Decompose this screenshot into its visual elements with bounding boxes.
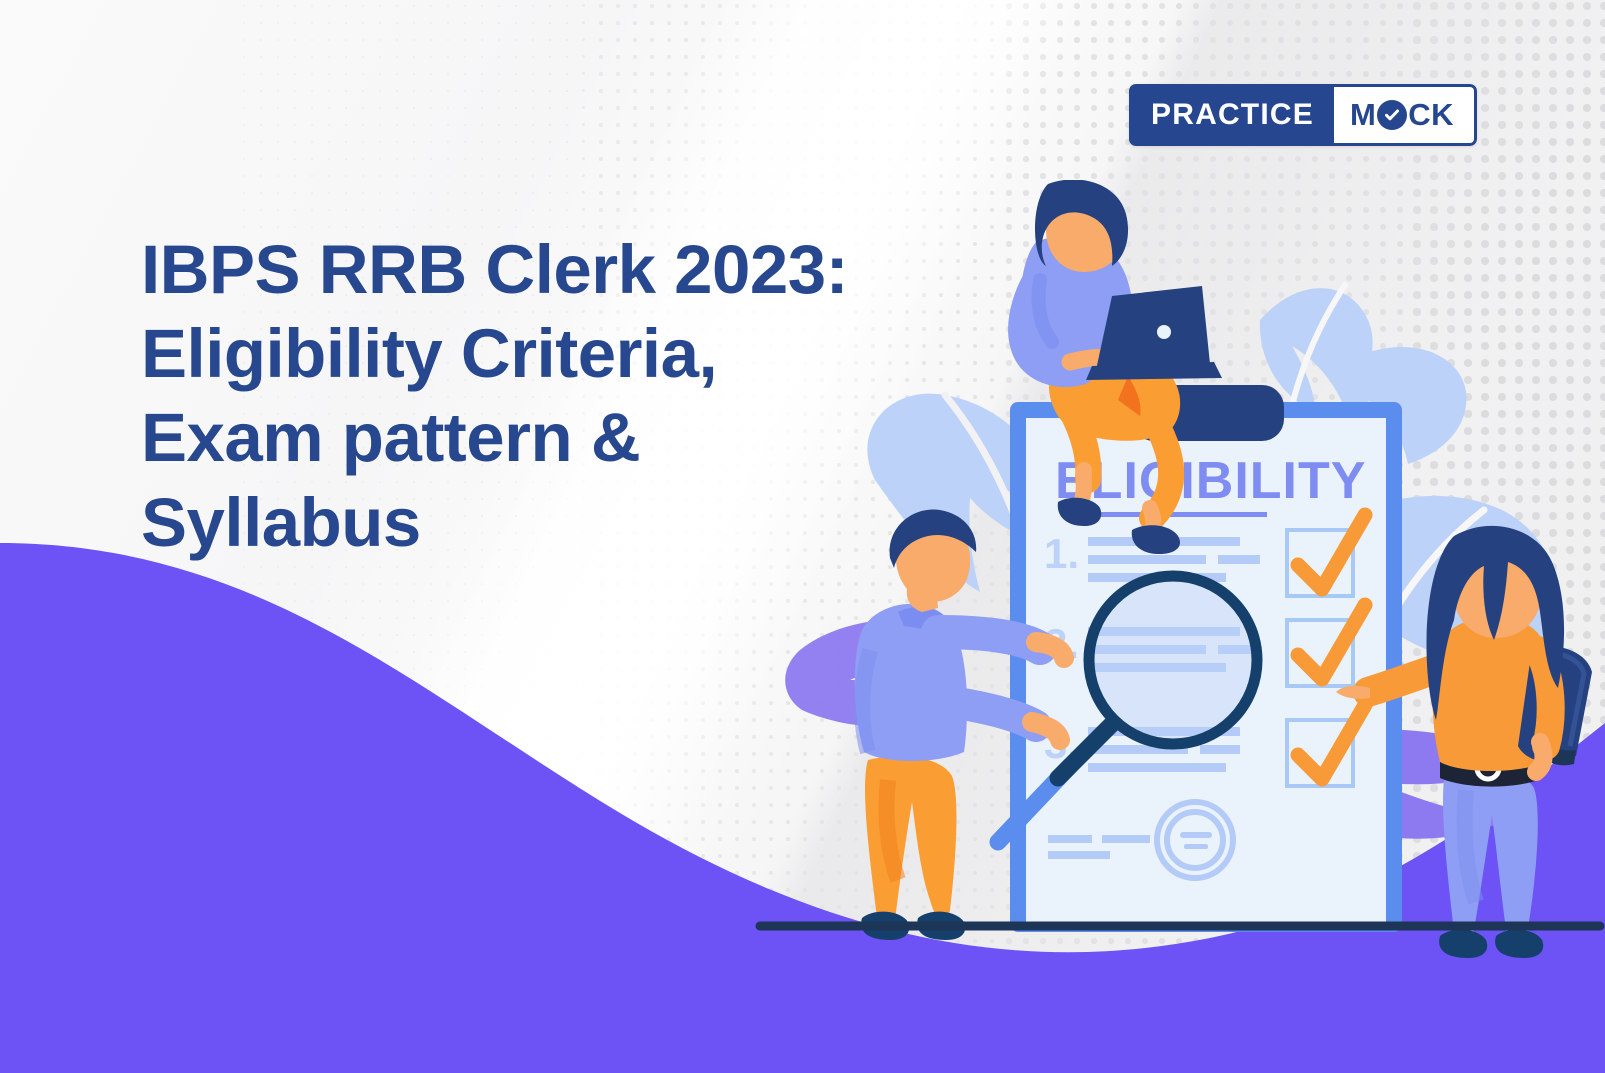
logo-mock-prefix: M	[1350, 97, 1376, 133]
laptop-icon	[1096, 286, 1210, 370]
practicemock-logo[interactable]: PRACTICE M CK	[1129, 84, 1477, 146]
man-arm-upper	[938, 632, 1040, 648]
banner-root: ELIGIBILITY 1. 2. 3.	[0, 0, 1605, 1073]
clipboard-heading: ELIGIBILITY	[1055, 452, 1366, 510]
logo-mock-suffix: CK	[1408, 97, 1454, 133]
logo-check-circle-icon	[1377, 100, 1407, 130]
checklist-number-1: 1.	[1044, 530, 1079, 577]
title-line-4: Syllabus	[141, 481, 931, 565]
logo-mock-wordmark: M CK	[1334, 84, 1477, 146]
title-line-2: Eligibility Criteria,	[141, 312, 931, 396]
man-pants	[865, 756, 956, 931]
logo-practice-text: PRACTICE	[1129, 84, 1334, 146]
folder-woman-shoe-right	[1495, 930, 1543, 958]
title-line-1: IBPS RRB Clerk 2023:	[141, 228, 931, 312]
page-title: IBPS RRB Clerk 2023: Eligibility Criteri…	[141, 228, 931, 565]
title-line-3: Exam pattern &	[141, 396, 931, 480]
check-icon	[1383, 106, 1401, 124]
folder-woman-shoe-left	[1439, 930, 1487, 958]
